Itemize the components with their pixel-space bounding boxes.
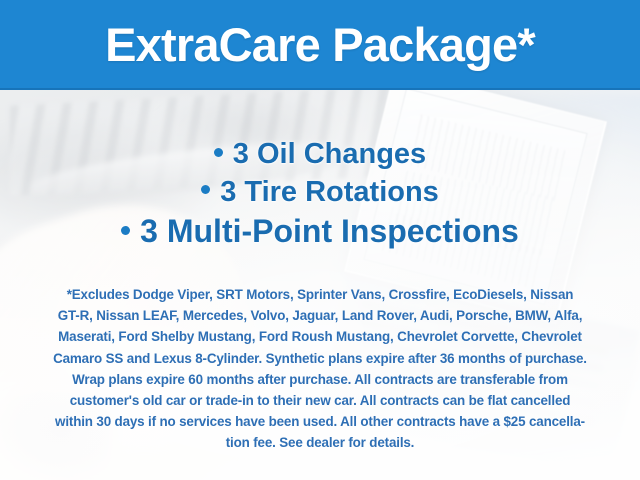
benefit-label: 3 Oil Changes xyxy=(233,138,426,170)
bullet-dot-icon xyxy=(214,148,223,157)
benefit-label: 3 Tire Rotations xyxy=(220,176,439,208)
fineprint-line: Wrap plans expire 60 months after purcha… xyxy=(22,369,618,390)
fineprint-line: GT-R, Nissan LEAF, Mercedes, Volvo, Jagu… xyxy=(22,305,618,326)
fineprint-line: Camaro SS and Lexus 8-Cylinder. Syntheti… xyxy=(22,348,618,369)
fineprint-line: tion fee. See dealer for details. xyxy=(22,432,618,453)
extracare-package-ad: ExtraCare Package* 3 Oil Changes 3 Tire … xyxy=(0,0,640,480)
list-item: 3 Oil Changes xyxy=(0,138,640,172)
fineprint-line: customer's old car or trade-in to their … xyxy=(22,390,618,411)
list-item: 3 Tire Rotations xyxy=(0,176,640,210)
list-item: 3 Multi-Point Inspections xyxy=(0,213,640,250)
disclaimer-fineprint: *Excludes Dodge Viper, SRT Motors, Sprin… xyxy=(22,284,618,454)
bullet-dot-icon xyxy=(201,185,210,194)
fineprint-line: within 30 days if no services have been … xyxy=(22,411,618,432)
fineprint-line: Maserati, Ford Shelby Mustang, Ford Rous… xyxy=(22,326,618,347)
fineprint-line: *Excludes Dodge Viper, SRT Motors, Sprin… xyxy=(22,284,618,305)
header-banner: ExtraCare Package* xyxy=(0,0,640,90)
benefit-label: 3 Multi-Point Inspections xyxy=(140,213,519,249)
page-title: ExtraCare Package* xyxy=(105,21,535,68)
bullet-dot-icon xyxy=(121,226,130,235)
benefits-list: 3 Oil Changes 3 Tire Rotations 3 Multi-P… xyxy=(0,138,640,250)
